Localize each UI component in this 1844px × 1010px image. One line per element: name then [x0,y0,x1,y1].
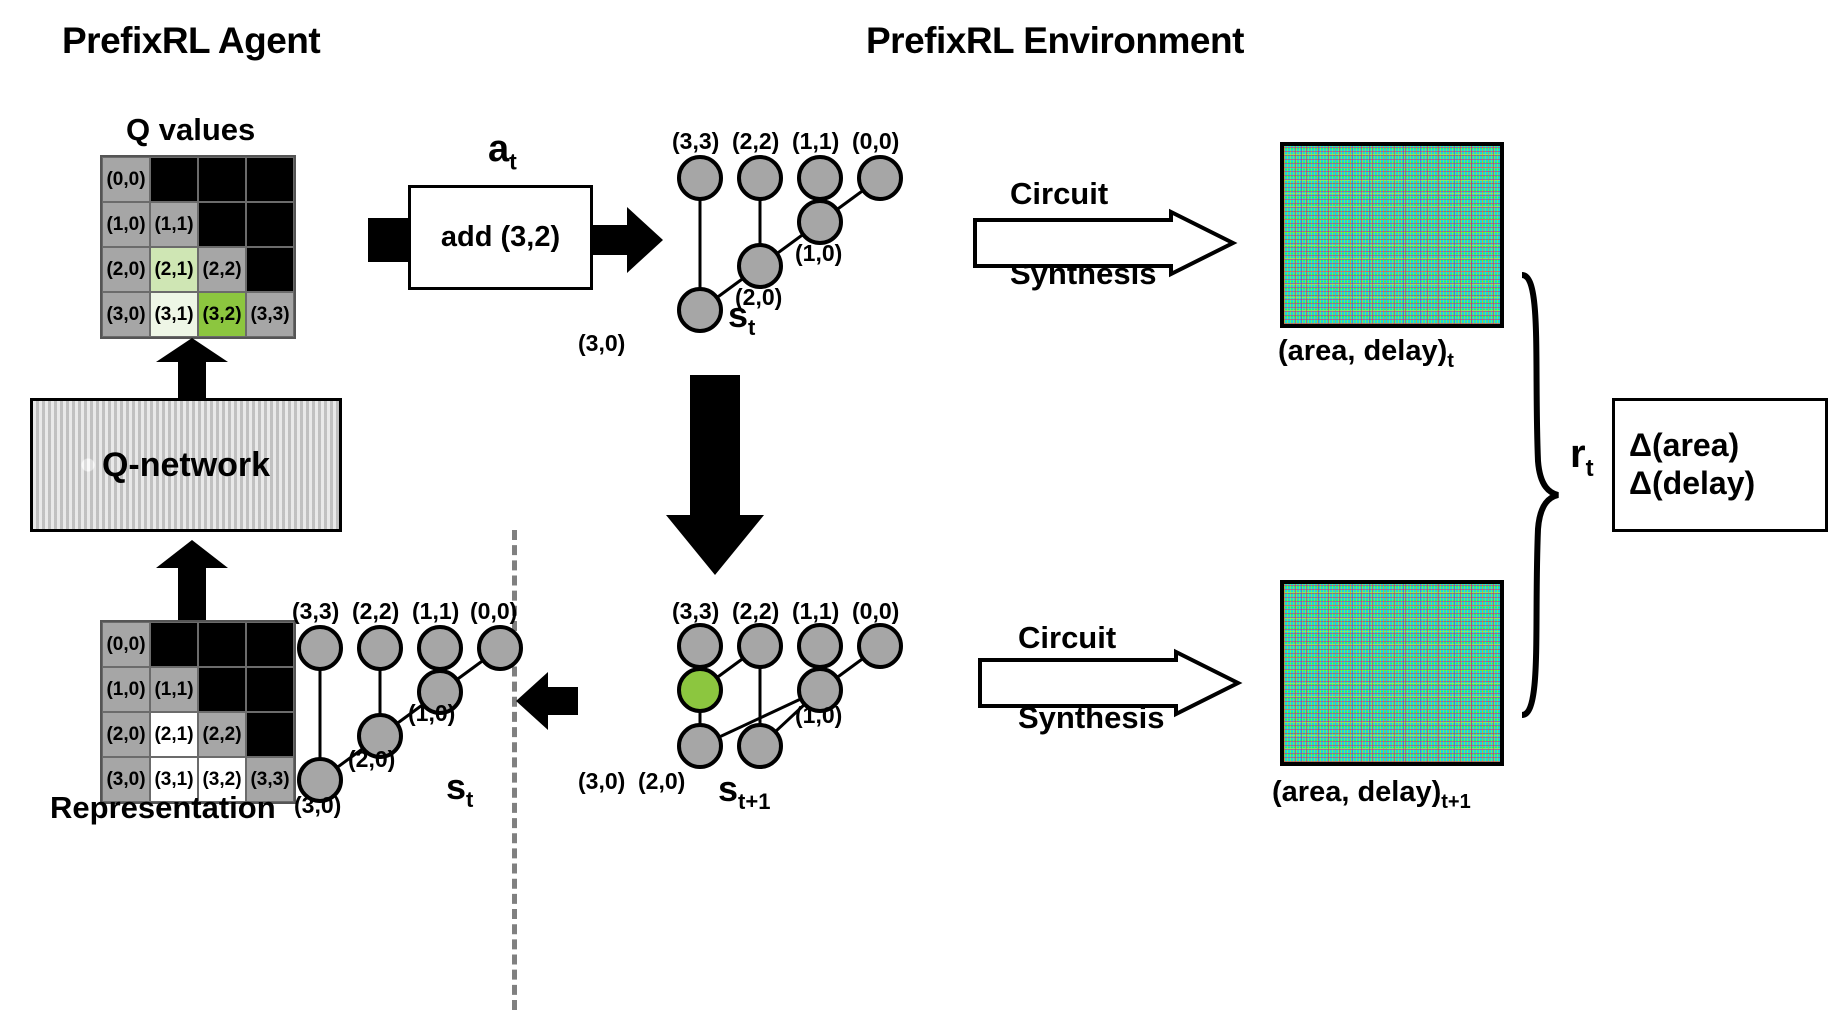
reward-symbol: rt [1570,432,1594,483]
q-values-cell-1-0[interactable]: (1,0) [102,202,150,247]
reward-box[interactable]: Δ(area) Δ(delay) [1612,398,1828,532]
q-network-label: Q-network [102,446,270,485]
q-values-cell-1-2[interactable] [198,202,246,247]
state-st-next-graph[interactable] [660,598,920,848]
stnext-label-22: (2,2) [732,598,779,625]
representation-cell-0-0[interactable]: (0,0) [102,622,150,667]
q-values-cell-3-1[interactable]: (3,1) [150,292,198,337]
representation-cell-0-3[interactable] [246,622,294,667]
representation-cell-1-0[interactable]: (1,0) [102,667,150,712]
q-network-box[interactable]: Q-network [30,398,342,532]
arrow-outline-synthesis-top [975,212,1235,274]
st-bottom-label-11: (1,1) [412,598,459,625]
reward-delta-delay: Δ(delay) [1629,465,1755,503]
reward-brace [1516,275,1562,715]
q-values-cell-0-3[interactable] [246,157,294,202]
action-box-connector [368,218,410,262]
arrow-down-state-transition [660,375,770,575]
q-values-cell-2-3[interactable] [246,247,294,292]
st-bottom-label-10: (1,0) [408,700,455,727]
st-bottom-label-22: (2,2) [352,598,399,625]
representation-label: Representation [50,790,276,826]
q-values-title: Q values [126,112,255,148]
st-top-label-33: (3,3) [672,128,719,155]
page-title-agent: PrefixRL Agent [62,20,320,62]
arrow-up-representation-to-qnetwork [140,540,250,622]
synthesis-bottom-line1: Circuit [1018,620,1116,656]
q-values-cell-2-1[interactable]: (2,1) [150,247,198,292]
representation-cell-1-3[interactable] [246,667,294,712]
st-top-label-30: (3,0) [578,330,625,357]
q-values-cell-1-3[interactable] [246,202,294,247]
arrow-left-state-to-representation [516,672,578,730]
q-values-cell-0-1[interactable] [150,157,198,202]
q-values-cell-3-3[interactable]: (3,3) [246,292,294,337]
st-bottom-label-20: (2,0) [348,746,395,773]
q-values-cell-1-1[interactable]: (1,1) [150,202,198,247]
stnext-label-11: (1,1) [792,598,839,625]
st-top-label-11: (1,1) [792,128,839,155]
action-symbol: at [488,128,517,176]
q-values-grid[interactable]: (0,0)(1,0)(1,1)(2,0)(2,1)(2,2)(3,0)(3,1)… [100,155,296,339]
representation-cell-2-2[interactable]: (2,2) [198,712,246,757]
representation-cell-2-1[interactable]: (2,1) [150,712,198,757]
state-st-top-graph[interactable] [660,130,920,360]
representation-cell-2-3[interactable] [246,712,294,757]
representation-cell-1-1[interactable]: (1,1) [150,667,198,712]
action-box[interactable]: add (3,2) [408,185,593,290]
q-values-cell-3-2[interactable]: (3,2) [198,292,246,337]
representation-cell-0-2[interactable] [198,622,246,667]
q-values-cell-2-0[interactable]: (2,0) [102,247,150,292]
stnext-label-20: (2,0) [638,768,685,795]
st-bottom-label-00: (0,0) [470,598,517,625]
q-values-cell-2-2[interactable]: (2,2) [198,247,246,292]
reward-delta-area: Δ(area) [1629,427,1739,465]
arrow-right-action-to-state [593,207,663,273]
stnext-label-33: (3,3) [672,598,719,625]
representation-cell-2-0[interactable]: (2,0) [102,712,150,757]
st-top-label-00: (0,0) [852,128,899,155]
chip-caption-top: (area, delay)t [1278,335,1454,373]
q-values-cell-0-2[interactable] [198,157,246,202]
q-values-cell-3-0[interactable]: (3,0) [102,292,150,337]
chip-layout-top [1280,142,1504,328]
st-bottom-state-symbol: st [446,766,473,813]
stnext-label-10: (1,0) [795,702,842,729]
st-top-label-10: (1,0) [795,240,842,267]
st-bottom-label-33: (3,3) [292,598,339,625]
representation-cell-0-1[interactable] [150,622,198,667]
synthesis-top-line1: Circuit [1010,176,1108,212]
st-top-label-22: (2,2) [732,128,779,155]
page-title-environment: PrefixRL Environment [866,20,1244,62]
arrow-up-qnetwork-to-qvalues [140,338,250,400]
arrow-outline-synthesis-bottom [980,652,1240,714]
stnext-label-30: (3,0) [578,768,625,795]
chip-caption-bottom: (area, delay)t+1 [1272,776,1471,814]
stnext-state-symbol: st+1 [718,768,770,815]
q-values-cell-0-0[interactable]: (0,0) [102,157,150,202]
representation-cell-1-2[interactable] [198,667,246,712]
action-box-label: add (3,2) [441,221,560,254]
st-bottom-label-30: (3,0) [294,792,341,819]
representation-grid[interactable]: (0,0)(1,0)(1,1)(2,0)(2,1)(2,2)(3,0)(3,1)… [100,620,296,804]
st-top-state-symbol: st [728,294,755,341]
chip-layout-bottom [1280,580,1504,766]
stnext-label-00: (0,0) [852,598,899,625]
